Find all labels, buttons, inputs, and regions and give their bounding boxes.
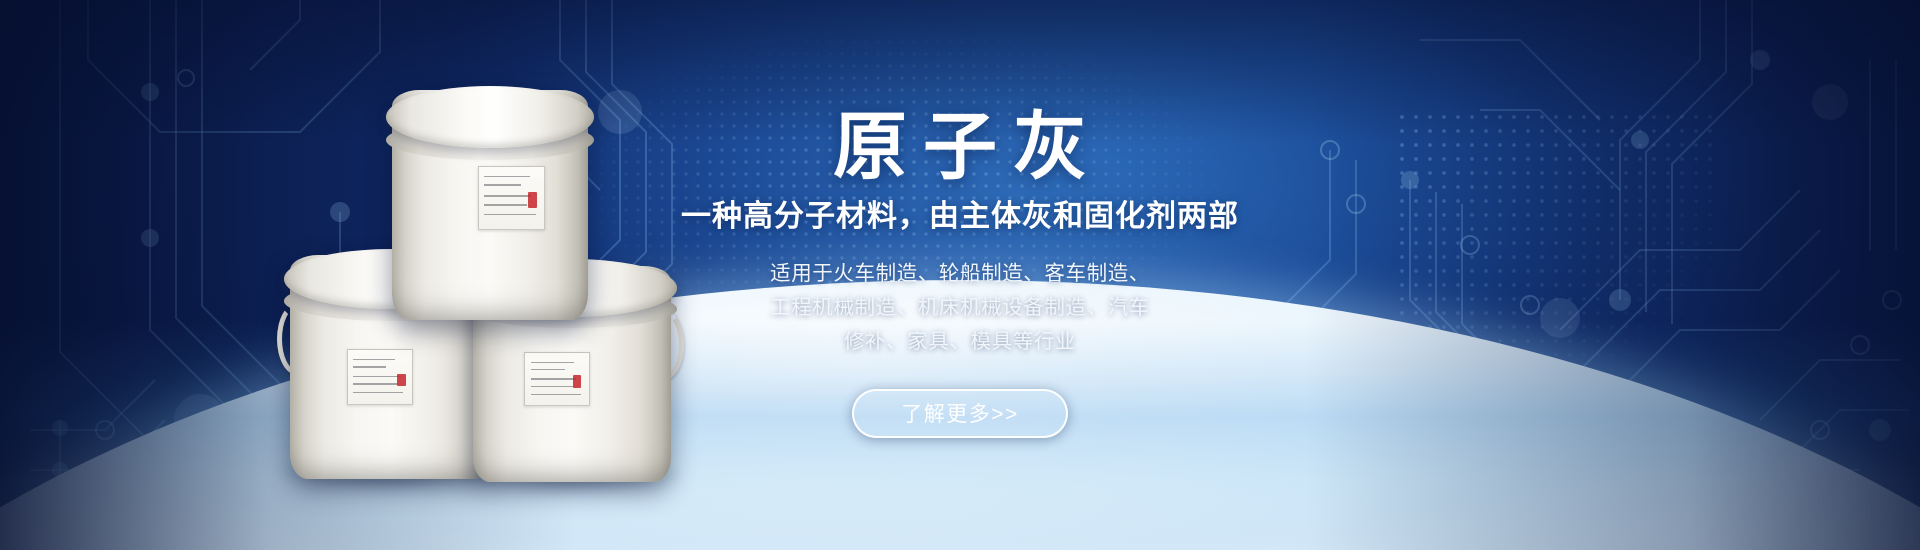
product-bucket-top	[392, 90, 588, 320]
product-hero-banner: 原子灰 一种高分子材料，由主体灰和固化剂两部 适用于火车制造、轮船制造、客车制造…	[0, 0, 1920, 550]
description-line-1: 适用于火车制造、轮船制造、客车制造、	[610, 257, 1310, 291]
bucket-label	[478, 166, 545, 230]
banner-copy: 原子灰 一种高分子材料，由主体灰和固化剂两部 适用于火车制造、轮船制造、客车制造…	[610, 110, 1310, 438]
bucket-label-red-mark	[573, 375, 581, 387]
bucket-label-red-mark	[397, 374, 406, 386]
bucket-lid	[386, 86, 595, 148]
bucket-label	[524, 352, 589, 406]
description-line-2: 工程机械制造、机床机械设备制造、汽车	[610, 291, 1310, 325]
banner-description: 适用于火车制造、轮船制造、客车制造、 工程机械制造、机床机械设备制造、汽车 修补…	[610, 257, 1310, 359]
cta-container: 了解更多>>	[610, 389, 1310, 438]
bucket-label	[347, 349, 414, 405]
banner-subtitle: 一种高分子材料，由主体灰和固化剂两部	[610, 200, 1310, 235]
learn-more-button[interactable]: 了解更多>>	[852, 389, 1068, 438]
description-line-3: 修补、家具、模具等行业	[610, 325, 1310, 359]
banner-title: 原子灰	[610, 110, 1310, 184]
bucket-label-red-mark	[528, 192, 537, 208]
